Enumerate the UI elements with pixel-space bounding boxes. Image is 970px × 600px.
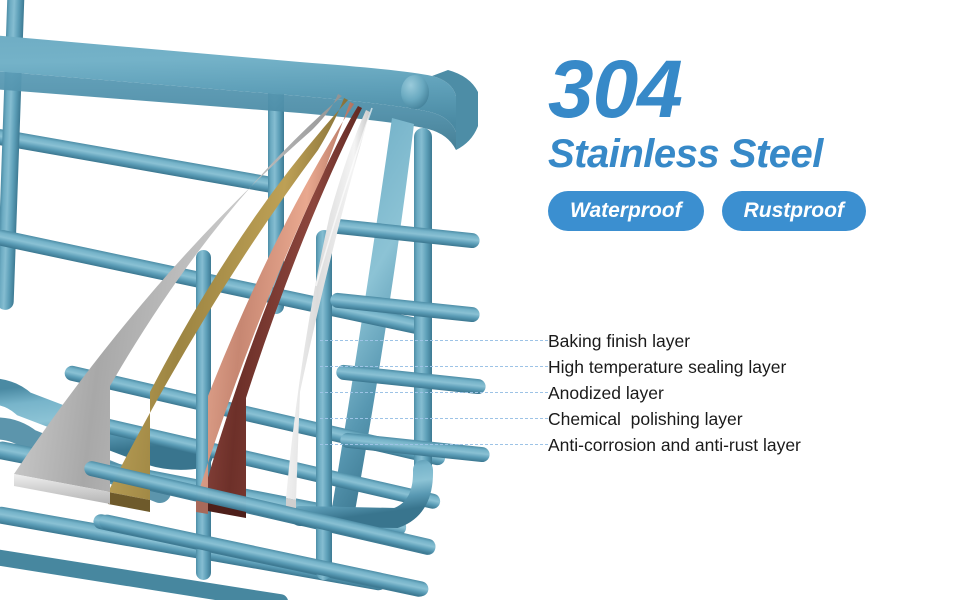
callout-label-high-temperature-sealing: High temperature sealing layer — [548, 359, 786, 377]
badge-waterproof: Waterproof — [548, 191, 704, 231]
callout-label-anti-corrosion: Anti-corrosion and anti-rust layer — [548, 437, 801, 455]
callout-row-high-temperature-sealing: High temperature sealing layer — [448, 355, 918, 381]
product-infographic: 304 Stainless Steel Waterproof Rustproof… — [0, 0, 970, 600]
callout-label-anodized: Anodized layer — [548, 385, 664, 403]
badge-rustproof: Rustproof — [722, 191, 866, 231]
callout-row-anti-corrosion: Anti-corrosion and anti-rust layer — [448, 433, 918, 459]
leader-line-icon — [320, 340, 548, 341]
grade-number-heading: 304 — [548, 52, 968, 127]
callout-row-anodized: Anodized layer — [448, 381, 918, 407]
leader-line-icon — [320, 366, 548, 367]
feature-badge-row: Waterproof Rustproof — [548, 191, 968, 231]
headline-panel: 304 Stainless Steel Waterproof Rustproof — [548, 52, 968, 231]
callout-label-baking-finish: Baking finish layer — [548, 333, 690, 351]
callout-row-chemical-polishing: Chemical polishing layer — [448, 407, 918, 433]
leader-line-icon — [320, 392, 548, 393]
callout-row-baking-finish: Baking finish layer — [448, 329, 918, 355]
leader-line-icon — [320, 444, 548, 445]
material-heading: Stainless Steel — [548, 133, 968, 175]
leader-line-icon — [320, 418, 548, 419]
callout-label-chemical-polishing: Chemical polishing layer — [548, 411, 743, 429]
coating-callout-list: Baking finish layer High temperature sea… — [448, 329, 918, 459]
